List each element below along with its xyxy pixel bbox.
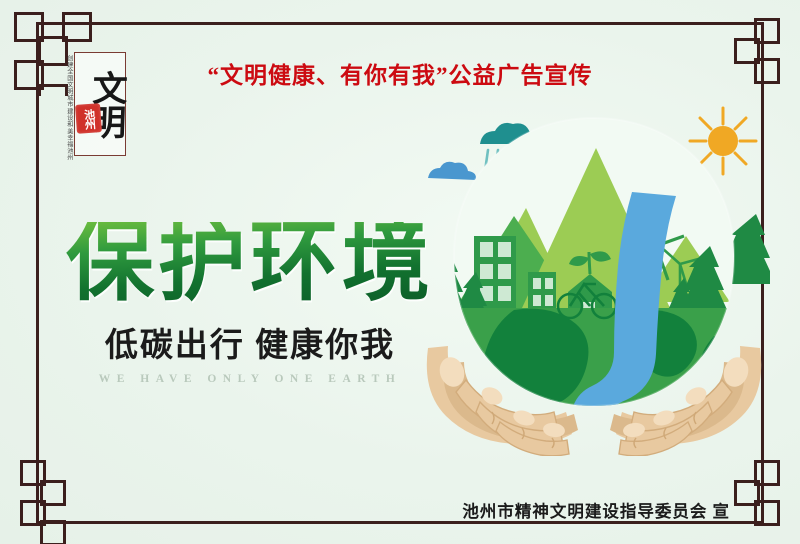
page-subtitle: 低碳出行 健康你我 bbox=[40, 318, 460, 366]
title-block: 保护环境 低碳出行 健康你我 WE HAVE ONLY ONE EARTH bbox=[40, 222, 460, 385]
footer-organization: 池州市精神文明建设指导委员会 宣 bbox=[462, 498, 730, 522]
page-subtitle-english: WE HAVE ONLY ONE EARTH bbox=[40, 373, 460, 385]
cloud-small-left bbox=[428, 162, 476, 180]
sun-core bbox=[708, 126, 738, 156]
frame-border-top bbox=[36, 22, 764, 25]
header-slogan: “文明健康、有你有我”公益广告宣传 bbox=[0, 56, 800, 90]
chizhou-seal-stamp: 池州 bbox=[75, 103, 102, 134]
poster-canvas: 创建全国文明城市 建设和美幸福池州 文明 池州 “文明健康、有你有我”公益广告宣… bbox=[0, 0, 800, 544]
illustration-hands-holding-earth bbox=[418, 96, 770, 456]
logo-side-text-left: 建设和美幸福池州 bbox=[65, 108, 72, 156]
page-title: 保护环境 bbox=[40, 222, 460, 306]
corner-ornament-bottom-left bbox=[14, 448, 98, 532]
